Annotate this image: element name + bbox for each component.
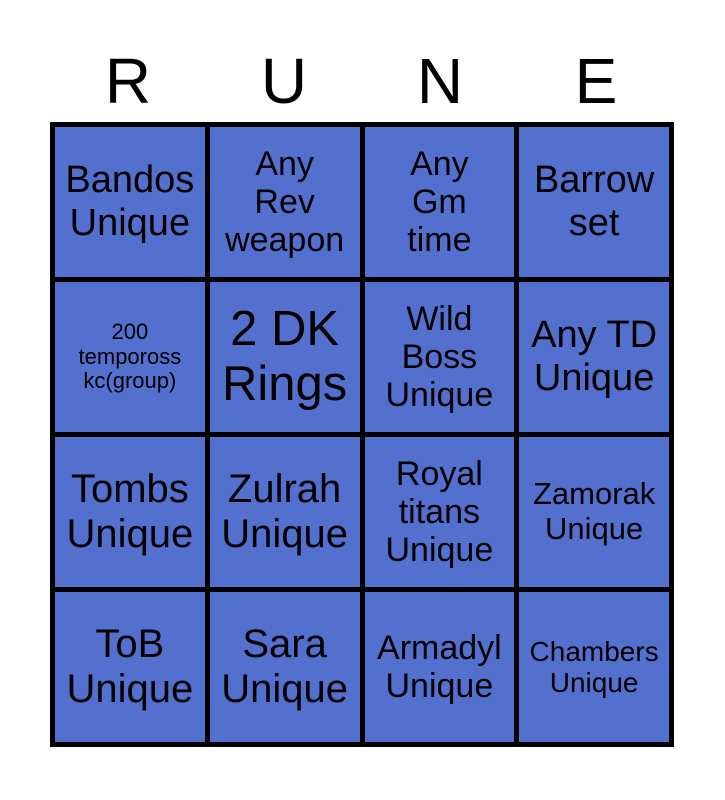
bingo-cell-label: Barrow set [522,159,666,244]
header-letter-4: E [518,40,674,122]
bingo-cell-label: Tombs Unique [58,467,202,557]
bingo-cell-label: Any Rev weapon [213,145,357,259]
bingo-cell-label: Sara Unique [213,622,357,712]
bingo-cell[interactable]: Any Gm time [365,127,515,277]
bingo-cell-label: Zamorak Unique [522,477,666,546]
bingo-card: R U N E Bandos Unique Any Rev weapon Any… [0,0,725,800]
bingo-cell-label: Any TD Unique [522,314,666,399]
bingo-cell-label: Any Gm time [368,145,512,259]
bingo-cell-label: Bandos Unique [58,159,202,244]
bingo-cell[interactable]: Zamorak Unique [519,437,669,587]
bingo-cell-label: Royal titans Unique [368,455,512,569]
header-letter-1: R [50,40,206,122]
bingo-cell-label: Chambers Unique [522,636,666,699]
bingo-cell[interactable]: Tombs Unique [55,437,205,587]
bingo-cell[interactable]: 2 DK Rings [210,282,360,432]
bingo-cell[interactable]: Sara Unique [210,592,360,742]
bingo-header: R U N E [50,40,674,122]
bingo-cell[interactable]: Any Rev weapon [210,127,360,277]
header-letter-3: N [362,40,518,122]
bingo-cell-label: ToB Unique [58,622,202,712]
bingo-cell[interactable]: Bandos Unique [55,127,205,277]
bingo-cell-label: Zulrah Unique [213,467,357,557]
bingo-cell[interactable]: Barrow set [519,127,669,277]
bingo-cell-label: Wild Boss Unique [368,300,512,414]
bingo-grid: Bandos Unique Any Rev weapon Any Gm time… [50,122,674,747]
bingo-cell[interactable]: Armadyl Unique [365,592,515,742]
bingo-cell-label: Armadyl Unique [368,629,512,705]
bingo-cell[interactable]: Wild Boss Unique [365,282,515,432]
bingo-cell-label: 200 tempoross kc(group) [58,320,202,394]
bingo-cell[interactable]: ToB Unique [55,592,205,742]
bingo-cell[interactable]: Chambers Unique [519,592,669,742]
bingo-cell[interactable]: Zulrah Unique [210,437,360,587]
bingo-cell[interactable]: Royal titans Unique [365,437,515,587]
header-letter-2: U [206,40,362,122]
bingo-cell[interactable]: Any TD Unique [519,282,669,432]
bingo-cell-label: 2 DK Rings [213,302,357,412]
bingo-cell[interactable]: 200 tempoross kc(group) [55,282,205,432]
